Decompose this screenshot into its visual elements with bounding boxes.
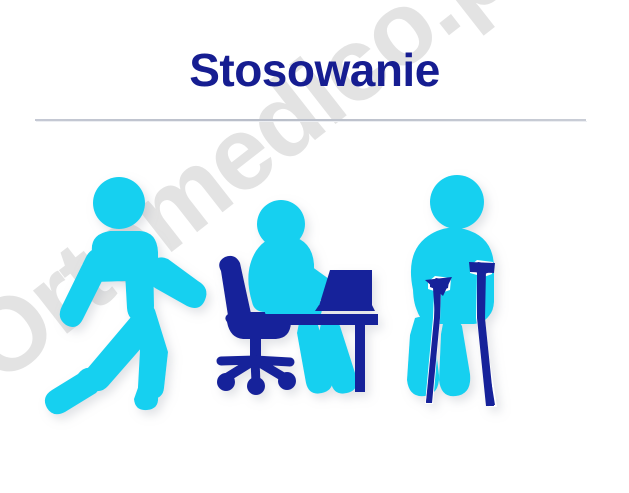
page-title: Stosowanie	[0, 44, 629, 96]
person-at-desk-icon	[217, 200, 378, 395]
walking-person-icon	[45, 177, 207, 414]
slide-canvas: Ortomedico.pl Stosowanie	[0, 0, 629, 493]
title-divider	[35, 119, 586, 121]
person-with-crutches-icon	[407, 175, 497, 407]
